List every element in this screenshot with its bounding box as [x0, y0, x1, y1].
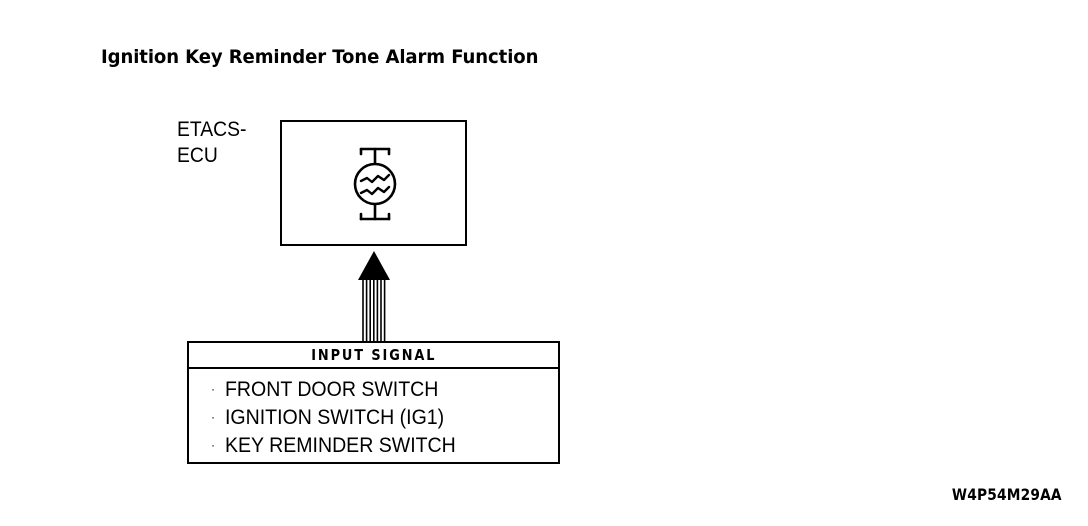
- ecu-label: ETACS- ECU: [177, 117, 246, 169]
- signal-item-label: FRONT DOOR SWITCH: [225, 377, 438, 402]
- input-signal-header-label: INPUT SIGNAL: [311, 346, 436, 364]
- drawing-code: W4P54M29AA: [952, 485, 1062, 504]
- upward-signal-bundle-arrow-icon: [354, 249, 394, 344]
- ecu-label-line-2: ECU: [177, 143, 246, 169]
- bullet-icon: ·: [211, 433, 225, 458]
- signal-item-label: KEY REMINDER SWITCH: [225, 433, 456, 458]
- list-item: · IGNITION SWITCH (IG1): [211, 405, 558, 433]
- buzzer-sounder-icon: [348, 138, 402, 230]
- signal-item-label: IGNITION SWITCH (IG1): [225, 405, 444, 430]
- bullet-icon: ·: [211, 405, 225, 430]
- ecu-label-line-1: ETACS-: [177, 117, 246, 143]
- list-item: · KEY REMINDER SWITCH: [211, 433, 558, 461]
- input-signal-list: · FRONT DOOR SWITCH · IGNITION SWITCH (I…: [189, 369, 558, 461]
- bullet-icon: ·: [211, 377, 225, 402]
- list-item: · FRONT DOOR SWITCH: [211, 377, 558, 405]
- input-signal-table: INPUT SIGNAL · FRONT DOOR SWITCH · IGNIT…: [187, 341, 560, 464]
- page-title: Ignition Key Reminder Tone Alarm Functio…: [101, 46, 538, 68]
- input-signal-table-header: INPUT SIGNAL: [189, 343, 558, 369]
- diagram-canvas: Ignition Key Reminder Tone Alarm Functio…: [0, 0, 1088, 526]
